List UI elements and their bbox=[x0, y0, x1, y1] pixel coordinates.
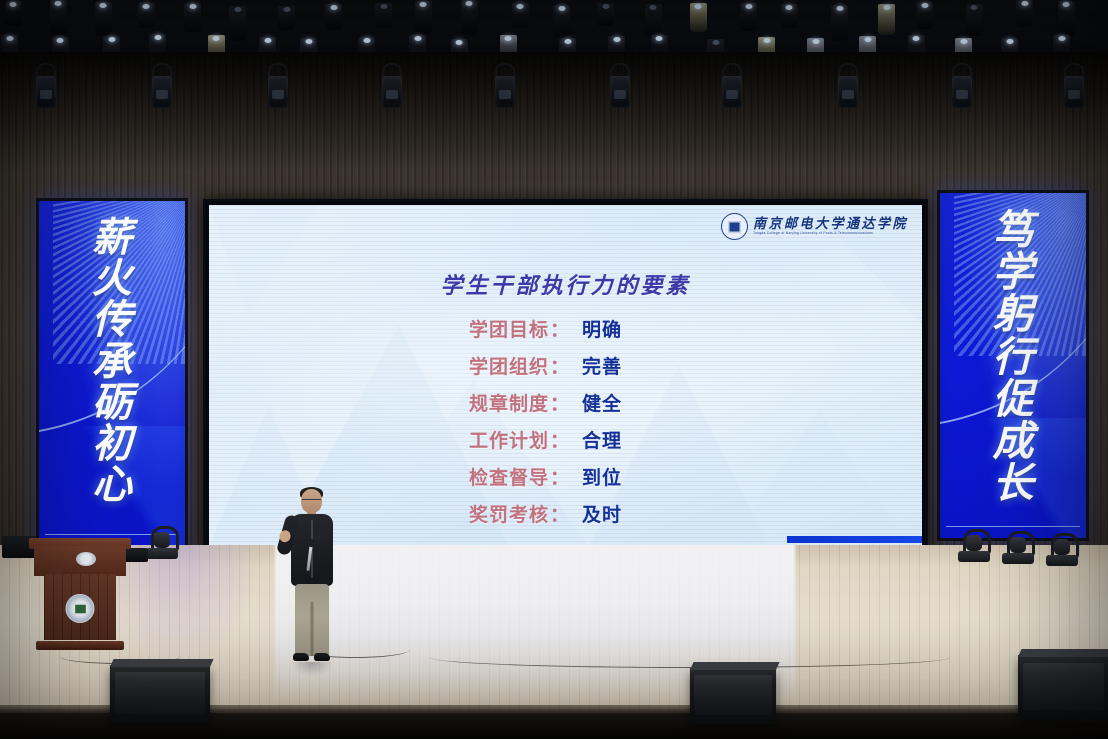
banner-char: 心 bbox=[92, 464, 132, 505]
pendant-speaker bbox=[1064, 76, 1084, 108]
logo-english-name: Tongda College of Nanjing University of … bbox=[753, 232, 908, 235]
stage-light-fixture bbox=[415, 1, 432, 34]
banner-char: 学 bbox=[993, 251, 1034, 293]
slide-row-label: 学团目标 bbox=[417, 315, 549, 342]
banner-right-text: 笃学躬行促成长 bbox=[940, 209, 1086, 505]
stage-light-fixture bbox=[740, 3, 757, 31]
banner-bottom-rule bbox=[946, 526, 1080, 527]
mover-left bbox=[146, 525, 178, 559]
slide-row-value: 合理 bbox=[572, 426, 714, 453]
stage-light-fixture bbox=[512, 3, 529, 28]
slide-row-label: 检查督导 bbox=[417, 463, 549, 490]
stage-light-fixture bbox=[325, 4, 342, 30]
banner-char: 成 bbox=[993, 420, 1034, 462]
slide-row-label: 学团组织 bbox=[417, 352, 549, 379]
stage-monitor-center bbox=[690, 668, 776, 724]
slide-row: 工作计划：合理 bbox=[209, 426, 922, 453]
banner-char: 薪 bbox=[92, 217, 132, 258]
banner-left-text: 薪火传承砺初心 bbox=[39, 217, 185, 505]
banner-char: 砺 bbox=[92, 382, 132, 423]
banner-right: 笃学躬行促成长 bbox=[937, 190, 1089, 541]
slide-row-value: 健全 bbox=[572, 389, 714, 416]
stage-light-fixture bbox=[375, 3, 392, 28]
pendant-speaker bbox=[382, 76, 402, 108]
pendant-speaker bbox=[152, 76, 172, 108]
slide-row-colon: ： bbox=[549, 463, 572, 490]
banner-char: 促 bbox=[993, 378, 1034, 420]
stage-light-fixture bbox=[278, 6, 295, 31]
mover-right-2 bbox=[1002, 530, 1034, 564]
slide-row-label: 规章制度 bbox=[417, 389, 549, 416]
slide-row-value: 明确 bbox=[572, 315, 714, 342]
banner-left: 薪火传承砺初心 bbox=[36, 198, 188, 549]
presenter-shoe bbox=[314, 653, 330, 661]
stage-light-fixture bbox=[184, 3, 201, 32]
banner-char: 火 bbox=[92, 258, 132, 299]
slide-row-colon: ： bbox=[549, 352, 572, 379]
mover-right-3 bbox=[1046, 532, 1078, 566]
pendant-speaker bbox=[610, 76, 630, 108]
banner-char: 长 bbox=[993, 462, 1034, 504]
stage-light-fixture bbox=[5, 1, 22, 26]
slide-row-value: 到位 bbox=[572, 463, 714, 490]
slide-row-colon: ： bbox=[549, 426, 572, 453]
slide-row-value: 及时 bbox=[572, 500, 714, 527]
slide-row-label: 奖罚考核 bbox=[417, 500, 549, 527]
banner-char: 传 bbox=[92, 299, 132, 340]
pendant-speaker bbox=[722, 76, 742, 108]
mover-right-1 bbox=[958, 528, 990, 562]
presenter-floor-reflection bbox=[291, 662, 333, 676]
presenter-hand bbox=[278, 529, 292, 544]
slide-row-label: 工作计划 bbox=[417, 426, 549, 453]
truss-row-front bbox=[0, 0, 1108, 34]
stage-light-fixture bbox=[1016, 0, 1033, 27]
lectern bbox=[34, 538, 126, 650]
stage-light-fixture bbox=[781, 4, 798, 28]
banner-char: 笃 bbox=[993, 209, 1034, 251]
stage-light-fixture bbox=[597, 3, 614, 26]
stage-monitor-left bbox=[110, 665, 210, 723]
auditorium-scene: 薪火传承砺初心 笃学躬行促成长 bbox=[0, 0, 1108, 739]
banner-char: 初 bbox=[92, 423, 132, 464]
slide-row-colon: ： bbox=[549, 500, 572, 527]
slide-row: 学团组织：完善 bbox=[209, 352, 922, 379]
slide-title: 学生干部执行力的要素 bbox=[209, 268, 922, 300]
slide-accent-bar bbox=[787, 536, 922, 543]
lectern-top-emblem bbox=[76, 552, 96, 566]
lectern-cable bbox=[30, 580, 43, 642]
presenter bbox=[283, 489, 341, 670]
banner-char: 承 bbox=[92, 341, 132, 382]
pendant-speaker bbox=[268, 76, 288, 108]
banner-char: 行 bbox=[993, 336, 1034, 378]
pendant-speaker bbox=[838, 76, 858, 108]
slide-row-colon: ： bbox=[549, 389, 572, 416]
glasses-icon bbox=[302, 499, 321, 504]
university-logo: 南京邮电大学通达学院 Tongda College of Nanjing Uni… bbox=[721, 213, 908, 240]
pendant-speaker bbox=[952, 76, 972, 108]
stage-light-fixture bbox=[916, 2, 933, 29]
slide-row-value: 完善 bbox=[572, 352, 714, 379]
lectern-emblem-icon bbox=[66, 594, 95, 623]
slide-row: 检查督导：到位 bbox=[209, 463, 922, 490]
presenter-trousers bbox=[295, 584, 329, 656]
logo-chinese-name: 南京邮电大学通达学院 bbox=[753, 217, 908, 231]
slide-row: 规章制度：健全 bbox=[209, 389, 922, 416]
slide-row-colon: ： bbox=[549, 315, 572, 342]
stage-light-fixture bbox=[138, 3, 155, 28]
pendant-speaker bbox=[495, 76, 515, 108]
stage-light-fixture bbox=[690, 3, 707, 32]
stage-monitor-right bbox=[1018, 655, 1108, 721]
presenter-shoe bbox=[293, 653, 309, 661]
pendant-speaker bbox=[36, 76, 56, 108]
floor-cable bbox=[430, 647, 950, 668]
banner-char: 躬 bbox=[993, 293, 1034, 335]
slide-row: 学团目标：明确 bbox=[209, 315, 922, 342]
university-seal-icon bbox=[721, 213, 748, 240]
